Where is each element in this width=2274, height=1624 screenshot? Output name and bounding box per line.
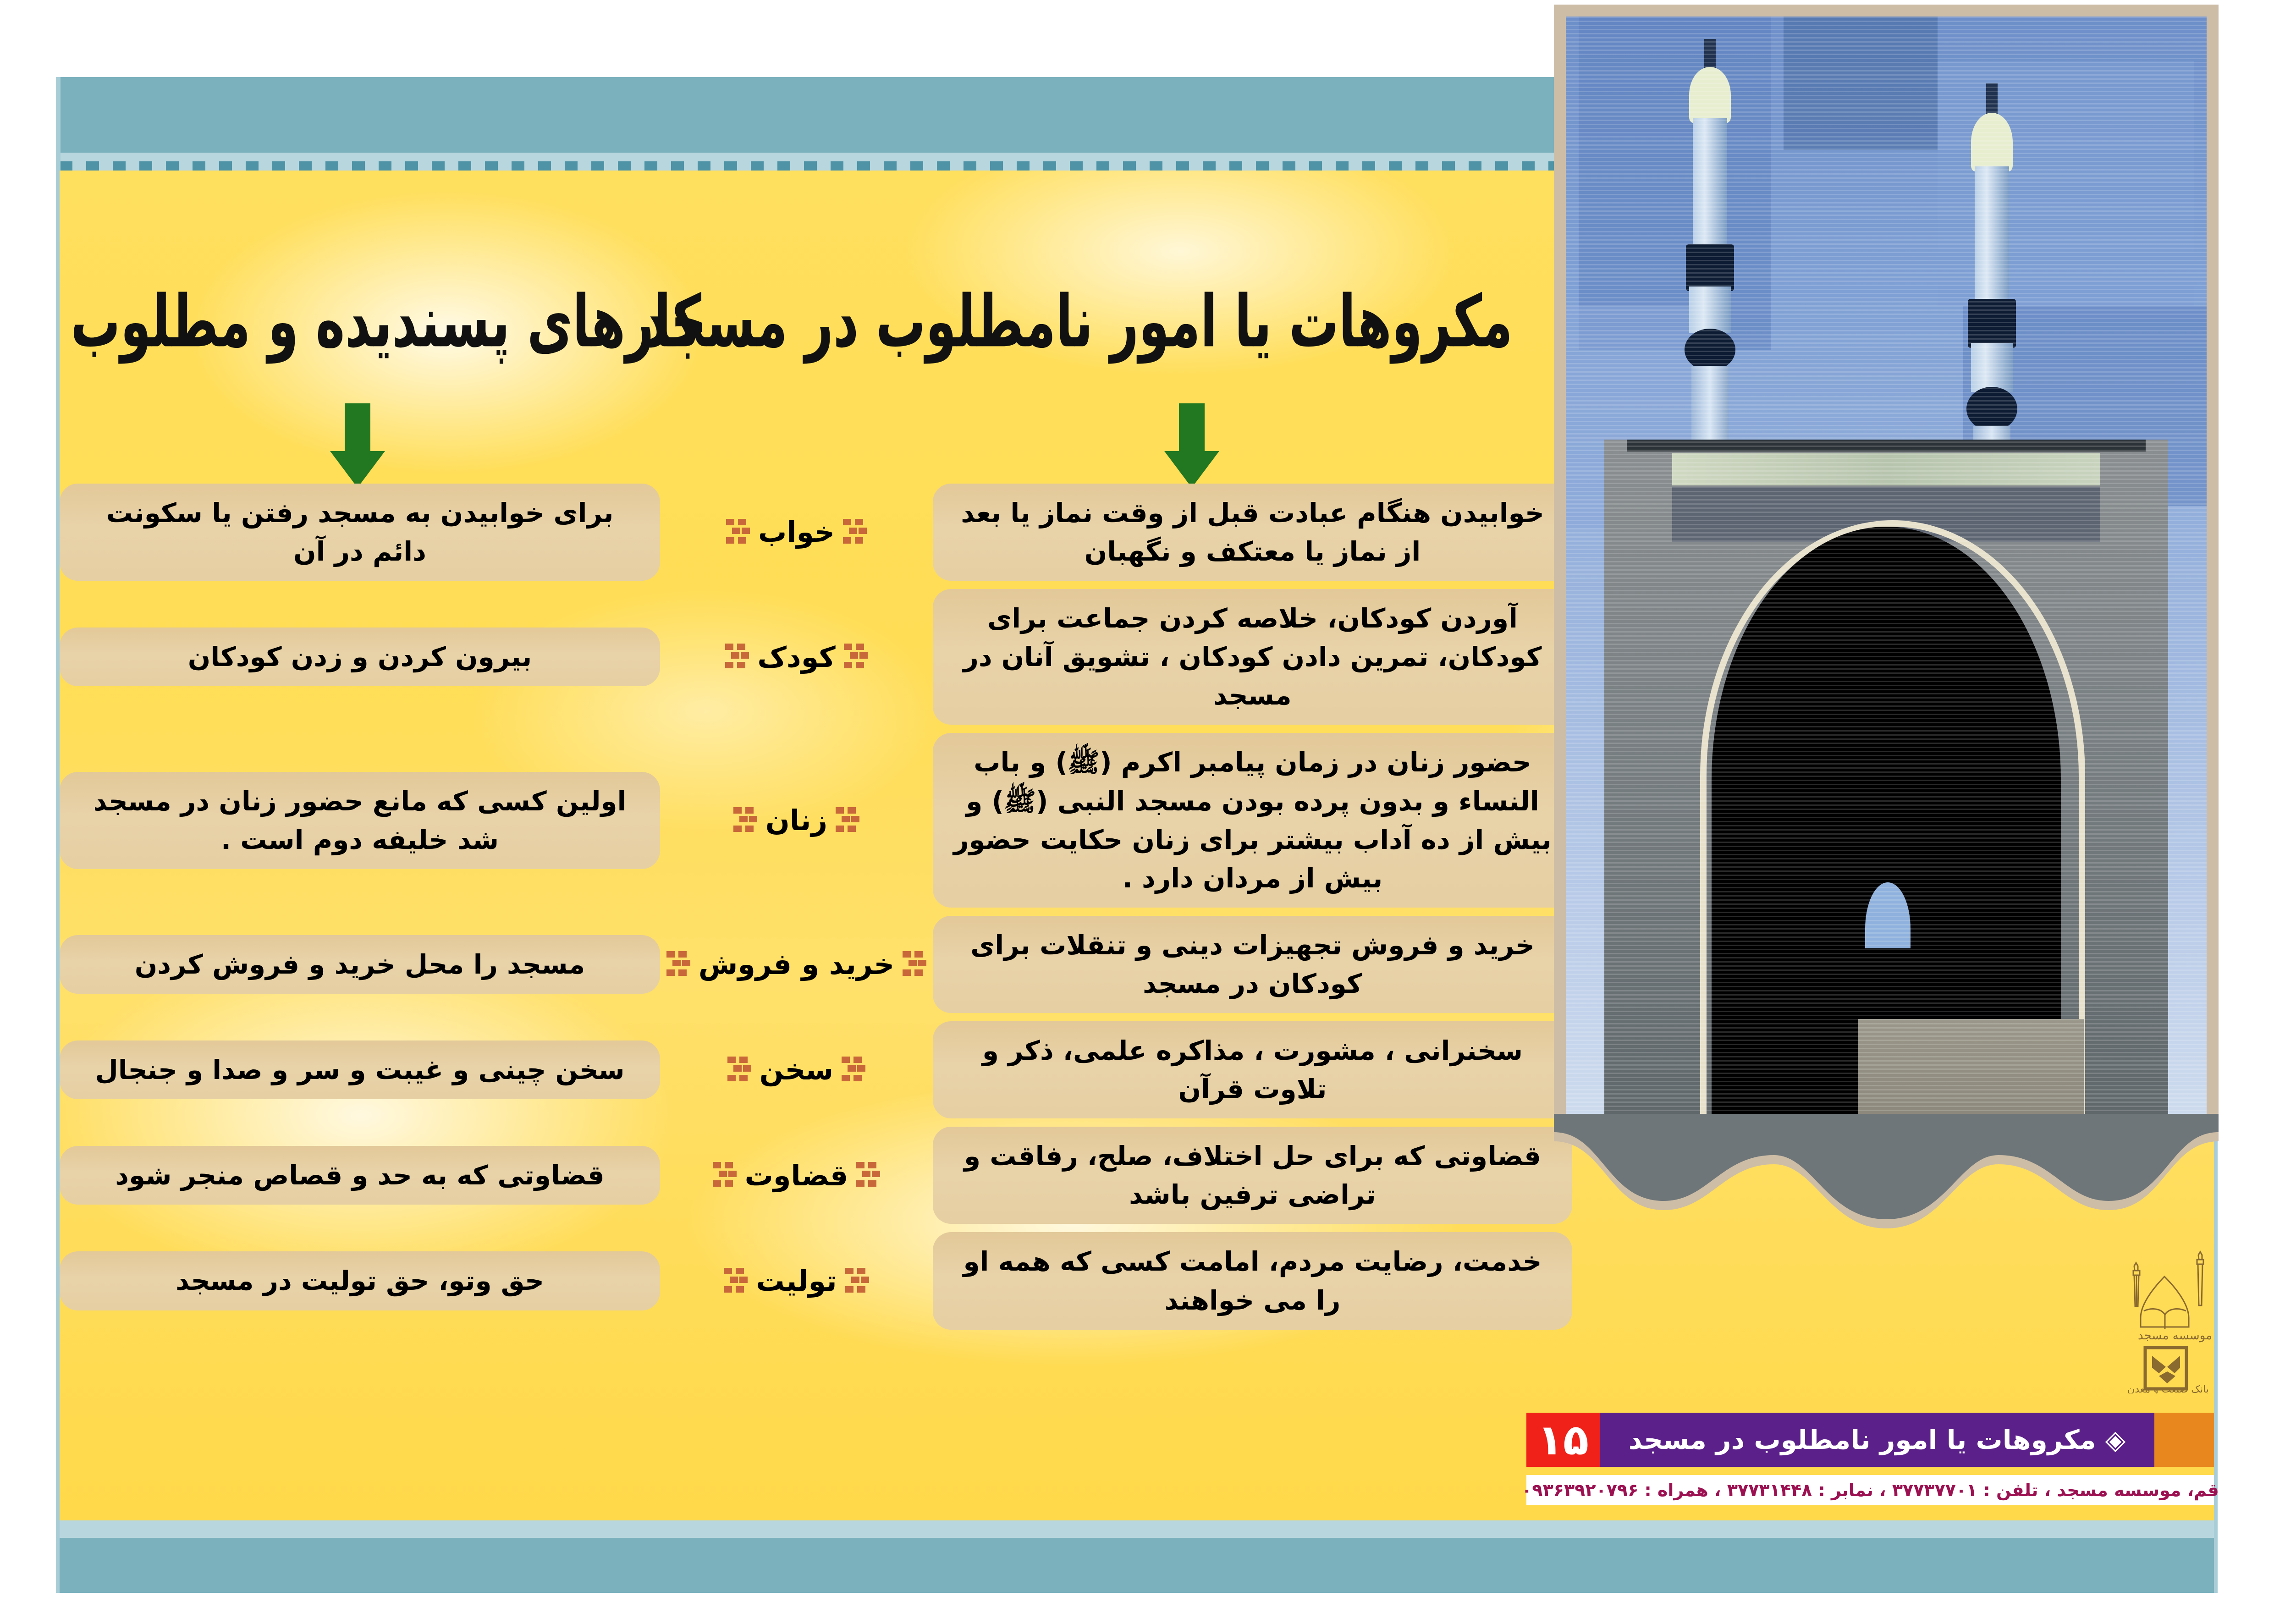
diamond-ornament-icon: [725, 640, 749, 674]
stairs: [1858, 1019, 2083, 1129]
cell-undesirable-text: قضاوتی که به حد و قصاص منجر شود: [115, 1156, 605, 1195]
row-topic: کودک: [677, 640, 916, 674]
diamond-ornament-icon: [724, 1264, 748, 1298]
diamond-ornament-icon: [727, 1053, 751, 1087]
cell-desirable-text: خرید و فروش تجهیزات دینی و تنقلات برای ک…: [951, 926, 1554, 1003]
calligraphy-band: [1672, 453, 2101, 485]
row-topic-label: تولیت: [756, 1265, 837, 1297]
column-header-desirable: کارهای پسندیده و مطلوب: [151, 281, 701, 363]
row-topic-label: سخن: [760, 1054, 833, 1085]
page-number: ۱۵: [1526, 1413, 1600, 1467]
minaret-right: [1963, 83, 2021, 573]
table-row: سخن چینی و غیبت و سر و صدا و جنجال سخن س…: [60, 1021, 1572, 1118]
arch-window: [1865, 882, 1911, 949]
cell-desirable: آوردن کودکان، خلاصه کردن جماعت برای کودک…: [933, 589, 1572, 725]
cell-desirable: خدمت، رضایت مردم، امامت کسی که همه او را…: [933, 1232, 1572, 1329]
minaret-left: [1681, 39, 1739, 506]
cell-undesirable: برای خوابیدن به مسجد رفتن یا سکونت دائم …: [60, 484, 660, 581]
banner-title: ◈ مکروهات یا امور نامطلوب در مسجد: [1600, 1413, 2154, 1467]
cell-desirable: خوابیدن هنگام عبادت قبل از وقت نماز یا ب…: [933, 484, 1572, 581]
cell-desirable: حضور زنان در زمان پیامبر اکرم (ﷺ) و باب …: [933, 733, 1572, 907]
cell-undesirable-text: مسجد را محل خرید و فروش کردن: [135, 945, 585, 984]
cell-undesirable: بیرون کردن و زدن کودکان: [60, 628, 660, 686]
row-topic: خواب: [677, 515, 916, 549]
cell-undesirable-text: حق وتو، حق تولیت در مسجد: [176, 1261, 544, 1300]
bottom-teal-fade: [60, 1519, 2214, 1538]
diamond-ornament-icon: [845, 1264, 869, 1298]
mosque-photo: [1554, 5, 2237, 1238]
table-row: برای خوابیدن به مسجد رفتن یا سکونت دائم …: [60, 484, 1572, 581]
table-row: مسجد را محل خرید و فروش کردن خرید و فروش…: [60, 916, 1572, 1013]
diamond-ornament-icon: [713, 1158, 737, 1192]
cell-desirable-text: سخنرانی ، مشورت ، مذاکره علمی، ذکر و تلا…: [951, 1031, 1554, 1108]
row-topic-label: قضاوت: [745, 1160, 848, 1191]
cell-undesirable: قضاوتی که به حد و قصاص منجر شود: [60, 1146, 660, 1205]
cell-desirable-text: خوابیدن هنگام عبادت قبل از وقت نماز یا ب…: [951, 494, 1554, 571]
arrow-down-icon-undesirable: [1164, 403, 1219, 488]
logo-group: موسسه مسجد بانک صنعت و معدن: [2090, 1238, 2246, 1393]
mosque-image: [1566, 17, 2207, 1129]
photo-scallop-bottom: [1554, 1114, 2219, 1238]
bank-logo-text: بانک صنعت و معدن: [2127, 1384, 2209, 1393]
institute-logo: موسسه مسجد بانک صنعت و معدن: [2090, 1238, 2246, 1393]
mosque-portal: [1604, 440, 2168, 1129]
diamond-ornament-icon: [836, 804, 859, 837]
row-topic: قضاوت: [677, 1158, 916, 1192]
diamond-ornament-icon: [903, 947, 926, 981]
diamond-ornament-icon: [726, 515, 750, 549]
poster-root: مکروهات یا امور نامطلوب در مسجد کارهای پ…: [0, 0, 2274, 1624]
row-topic-label: خرید و فروش: [699, 948, 894, 980]
diamond-ornament-icon: [844, 640, 868, 674]
bottom-banner: ۱۵ ◈ مکروهات یا امور نامطلوب در مسجد: [1526, 1413, 2214, 1467]
cell-desirable-text: خدمت، رضایت مردم، امامت کسی که همه او را…: [951, 1242, 1554, 1319]
table-row: حق وتو، حق تولیت در مسجد تولیت خدمت، رضا…: [60, 1232, 1572, 1329]
photo-frame: [1554, 5, 2219, 1141]
diamond-ornament-icon: [733, 804, 757, 837]
diamond-ornament-icon: [856, 1158, 880, 1192]
cell-desirable-text: حضور زنان در زمان پیامبر اکرم (ﷺ) و باب …: [951, 743, 1554, 897]
diamond-ornament-icon: [843, 515, 867, 549]
cell-undesirable: اولین کسی که مانع حضور زنان در مسجد شد خ…: [60, 772, 660, 869]
banner-accent-block: [2154, 1413, 2214, 1467]
cell-undesirable-text: برای خوابیدن به مسجد رفتن یا سکونت دائم …: [78, 494, 642, 571]
diamond-ornament-icon: [666, 947, 690, 981]
contact-text: قم، موسسه مسجد ، تلفن : ۳۷۷۳۷۷۰۱ ، نمابر…: [1521, 1480, 2219, 1500]
contact-bar: قم، موسسه مسجد ، تلفن : ۳۷۷۳۷۷۰۱ ، نمابر…: [1526, 1475, 2214, 1505]
row-topic: خرید و فروش: [677, 947, 916, 981]
cell-desirable: قضاوتی که برای حل اختلاف، صلح، رفاقت و ت…: [933, 1127, 1572, 1224]
cell-undesirable: سخن چینی و غیبت و سر و صدا و جنجال: [60, 1040, 660, 1099]
cell-desirable-text: آوردن کودکان، خلاصه کردن جماعت برای کودک…: [951, 599, 1554, 715]
cell-desirable: خرید و فروش تجهیزات دینی و تنقلات برای ک…: [933, 916, 1572, 1013]
table-row: اولین کسی که مانع حضور زنان در مسجد شد خ…: [60, 733, 1572, 907]
table-row: بیرون کردن و زدن کودکان کودک آوردن کودکا…: [60, 589, 1572, 725]
cell-desirable-text: قضاوتی که برای حل اختلاف، صلح، رفاقت و ت…: [951, 1137, 1554, 1214]
institute-logo-text: موسسه مسجد: [2138, 1329, 2212, 1343]
row-topic: زنان: [677, 804, 916, 837]
row-topic: سخن: [677, 1053, 916, 1087]
diamond-ornament-icon: [842, 1053, 865, 1087]
row-topic-label: زنان: [765, 804, 827, 836]
archway: [1712, 527, 2061, 1129]
row-topic-label: کودک: [757, 641, 835, 673]
cell-undesirable-text: بیرون کردن و زدن کودکان: [188, 638, 532, 676]
table-row: قضاوتی که به حد و قصاص منجر شود قضاوت قض…: [60, 1127, 1572, 1224]
row-topic: تولیت: [677, 1264, 916, 1298]
bottom-teal-band: [60, 1538, 2214, 1593]
comparison-table: برای خوابیدن به مسجد رفتن یا سکونت دائم …: [60, 484, 1572, 1338]
cell-undesirable-text: اولین کسی که مانع حضور زنان در مسجد شد خ…: [78, 782, 642, 859]
cell-undesirable: حق وتو، حق تولیت در مسجد: [60, 1251, 660, 1310]
arrow-down-icon-desirable: [330, 403, 385, 488]
cell-undesirable: مسجد را محل خرید و فروش کردن: [60, 935, 660, 994]
column-header-undesirable: مکروهات یا امور نامطلوب در مسجد: [871, 281, 1513, 363]
cell-undesirable-text: سخن چینی و غیبت و سر و صدا و جنجال: [95, 1051, 624, 1089]
cell-desirable: سخنرانی ، مشورت ، مذاکره علمی، ذکر و تلا…: [933, 1021, 1572, 1118]
row-topic-label: خواب: [758, 516, 835, 548]
